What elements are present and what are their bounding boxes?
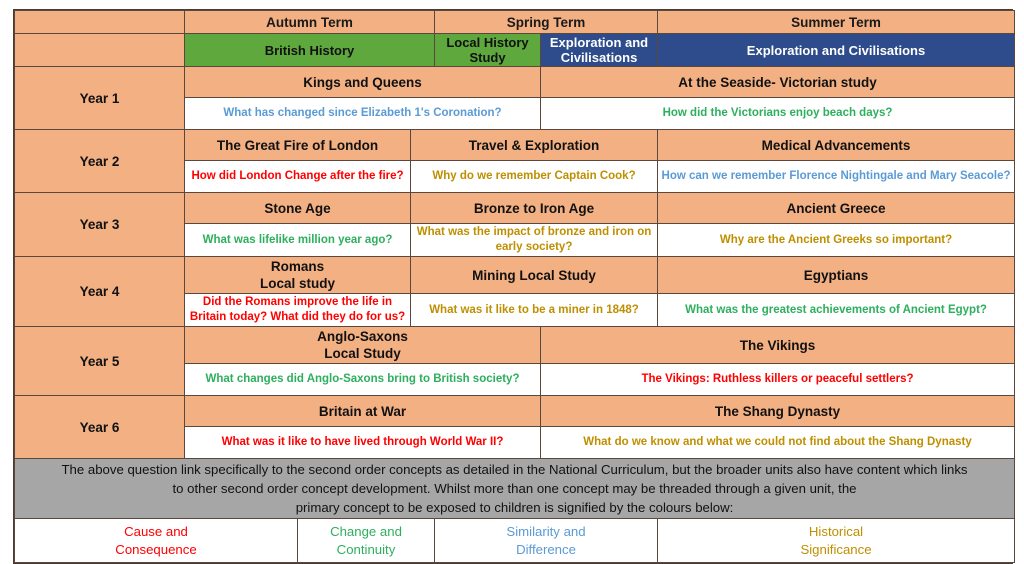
- legend-cause-and-consequence: Cause and Consequence: [15, 519, 298, 563]
- year-2-units-row: Year 2 The Great Fire of London Travel &…: [15, 130, 1015, 161]
- curriculum-note: The above question link specifically to …: [15, 459, 1015, 519]
- strand-british-history: British History: [185, 34, 435, 67]
- unit-title-y2-autumn: The Great Fire of London: [185, 130, 411, 161]
- unit-title-y2-spring: Travel & Exploration: [411, 130, 658, 161]
- unit-title-y1-summer: At the Seaside- Victorian study: [541, 67, 1015, 98]
- strand-exploration-civilisations-summer: Exploration and Civilisations: [658, 34, 1015, 67]
- legend-similarity-and-difference-line2: Difference: [438, 541, 654, 559]
- term-header-summer: Summer Term: [658, 11, 1015, 34]
- question-y2-autumn: How did London Change after the fire?: [185, 161, 411, 193]
- unit-title-y3-summer: Ancient Greece: [658, 193, 1015, 224]
- year-label-4: Year 4: [15, 257, 185, 327]
- question-y3-summer: Why are the Ancient Greeks so important?: [658, 224, 1015, 257]
- question-y3-autumn: What was lifelike million year ago?: [185, 224, 411, 257]
- legend-cause-and-consequence-line1: Cause and: [18, 523, 294, 541]
- question-y3-spring: What was the impact of bronze and iron o…: [411, 224, 658, 257]
- curriculum-note-line-2: to other second order concept developmen…: [18, 479, 1011, 498]
- unit-title-y5-summer: The Vikings: [541, 327, 1015, 364]
- year-label-3: Year 3: [15, 193, 185, 257]
- question-y2-spring: Why do we remember Captain Cook?: [411, 161, 658, 193]
- question-y4-summer: What was the greatest achievements of An…: [658, 294, 1015, 327]
- unit-title-y5-autumn: Anglo-Saxons Local Study: [185, 327, 541, 364]
- question-y2-summer: How can we remember Florence Nightingale…: [658, 161, 1015, 193]
- unit-title-y3-autumn: Stone Age: [185, 193, 411, 224]
- legend-historical-significance: Historical Significance: [658, 519, 1015, 563]
- legend-similarity-and-difference-line1: Similarity and: [438, 523, 654, 541]
- strand-local-history-study: Local History Study: [435, 34, 541, 67]
- curriculum-table: Autumn Term Spring Term Summer Term Brit…: [14, 10, 1015, 563]
- curriculum-note-line-3: primary concept to be exposed to childre…: [18, 498, 1011, 517]
- year-3-units-row: Year 3 Stone Age Bronze to Iron Age Anci…: [15, 193, 1015, 224]
- unit-title-y6-summer: The Shang Dynasty: [541, 396, 1015, 427]
- unit-title-y6-autumn: Britain at War: [185, 396, 541, 427]
- unit-title-y4-autumn: Romans Local study: [185, 257, 411, 294]
- year-6-units-row: Year 6 Britain at War The Shang Dynasty: [15, 396, 1015, 427]
- curriculum-note-line-1: The above question link specifically to …: [18, 460, 1011, 479]
- term-header-spring: Spring Term: [435, 11, 658, 34]
- year-5-units-row: Year 5 Anglo-Saxons Local Study The Viki…: [15, 327, 1015, 364]
- year-4-units-row: Year 4 Romans Local study Mining Local S…: [15, 257, 1015, 294]
- unit-title-y4-spring: Mining Local Study: [411, 257, 658, 294]
- unit-title-y5-autumn-line1: Anglo-Saxons: [188, 328, 537, 345]
- unit-title-y1-autumn: Kings and Queens: [185, 67, 541, 98]
- legend-historical-significance-line1: Historical: [661, 523, 1011, 541]
- question-y1-summer: How did the Victorians enjoy beach days?: [541, 98, 1015, 130]
- year-1-units-row: Year 1 Kings and Queens At the Seaside- …: [15, 67, 1015, 98]
- corner-blank-cell: [15, 11, 185, 34]
- unit-title-y4-autumn-line2: Local study: [188, 275, 407, 292]
- unit-title-y2-summer: Medical Advancements: [658, 130, 1015, 161]
- strand-blank-cell: [15, 34, 185, 67]
- year-label-1: Year 1: [15, 67, 185, 130]
- year-label-2: Year 2: [15, 130, 185, 193]
- year-label-5: Year 5: [15, 327, 185, 396]
- legend-change-and-continuity: Change and Continuity: [298, 519, 435, 563]
- unit-title-y3-spring: Bronze to Iron Age: [411, 193, 658, 224]
- question-y5-autumn: What changes did Anglo-Saxons bring to B…: [185, 364, 541, 396]
- question-y6-autumn: What was it like to have lived through W…: [185, 427, 541, 459]
- question-y4-autumn: Did the Romans improve the life in Brita…: [185, 294, 411, 327]
- question-y5-summer: The Vikings: Ruthless killers or peacefu…: [541, 364, 1015, 396]
- term-header-autumn: Autumn Term: [185, 11, 435, 34]
- unit-title-y4-summer: Egyptians: [658, 257, 1015, 294]
- unit-title-y5-autumn-line2: Local Study: [188, 345, 537, 362]
- strand-exploration-civilisations-spring: Exploration and Civilisations: [541, 34, 658, 67]
- unit-title-y4-autumn-line1: Romans: [188, 258, 407, 275]
- page-root: Autumn Term Spring Term Summer Term Brit…: [0, 0, 1024, 543]
- legend-similarity-and-difference: Similarity and Difference: [435, 519, 658, 563]
- legend-cause-and-consequence-line2: Consequence: [18, 541, 294, 559]
- legend-row: Cause and Consequence Change and Continu…: [15, 519, 1015, 563]
- question-y1-autumn: What has changed since Elizabeth 1's Cor…: [185, 98, 541, 130]
- term-header-row: Autumn Term Spring Term Summer Term: [15, 11, 1015, 34]
- legend-change-and-continuity-line1: Change and: [301, 523, 431, 541]
- strand-header-row: British History Local History Study Expl…: [15, 34, 1015, 67]
- legend-historical-significance-line2: Significance: [661, 541, 1011, 559]
- year-label-6: Year 6: [15, 396, 185, 459]
- legend-change-and-continuity-line2: Continuity: [301, 541, 431, 559]
- question-y4-spring: What was it like to be a miner in 1848?: [411, 294, 658, 327]
- curriculum-table-wrapper: Autumn Term Spring Term Summer Term Brit…: [13, 9, 1013, 564]
- note-row: The above question link specifically to …: [15, 459, 1015, 519]
- question-y6-summer: What do we know and what we could not fi…: [541, 427, 1015, 459]
